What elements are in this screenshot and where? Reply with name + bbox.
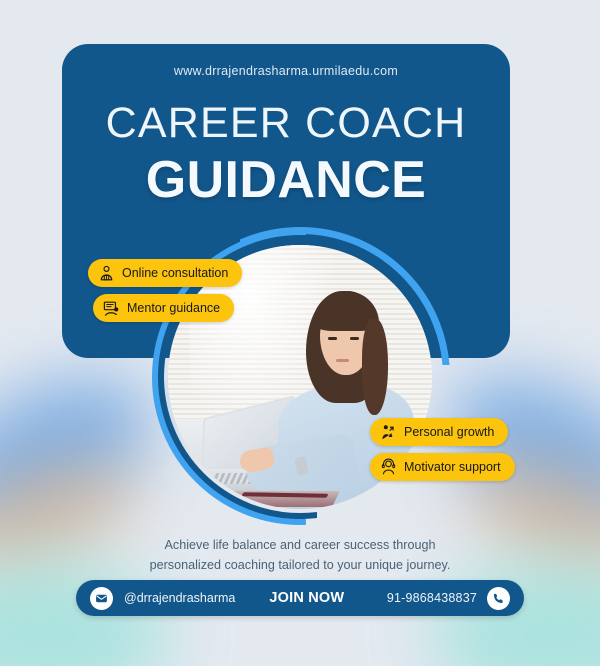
phone-handset-icon	[492, 592, 505, 605]
site-url: www.drrajendrasharma.urmilaedu.com	[62, 64, 510, 78]
footer-handle[interactable]: @drrajendrasharma	[124, 591, 235, 605]
envelope-badge[interactable]	[90, 587, 113, 610]
person-mouth	[336, 359, 349, 362]
feature-pill-label: Personal growth	[404, 425, 494, 439]
tagline-line-1: Achieve life balance and career success …	[100, 536, 500, 556]
person-hair-side	[362, 319, 388, 415]
envelope-icon	[95, 592, 108, 605]
feature-pill-personal-growth[interactable]: Personal growth	[370, 418, 508, 446]
join-now-button[interactable]: JOIN NOW	[269, 590, 344, 606]
growth-arrow-person-icon	[379, 423, 398, 442]
feature-pill-mentor-guidance[interactable]: Mentor guidance	[93, 294, 234, 322]
headline-bottom: GUIDANCE	[62, 154, 510, 206]
tagline: Achieve life balance and career success …	[100, 536, 500, 575]
consultant-person-icon	[97, 264, 116, 283]
footer-phone-number[interactable]: 91-9868438837	[387, 591, 477, 605]
mentor-presentation-icon	[102, 299, 121, 318]
background-blob-blue-left	[0, 346, 177, 569]
phone-badge[interactable]	[487, 587, 510, 610]
poster-root: www.drrajendrasharma.urmilaedu.com CAREE…	[0, 0, 600, 666]
headline-top: CAREER COACH	[62, 102, 510, 145]
tagline-line-2: personalized coaching tailored to your u…	[100, 556, 500, 576]
feature-pill-label: Motivator support	[404, 460, 501, 474]
feature-pill-motivator-support[interactable]: Motivator support	[370, 453, 515, 481]
headset-support-icon	[379, 458, 398, 477]
feature-pill-label: Online consultation	[122, 266, 228, 280]
feature-pill-online-consultation[interactable]: Online consultation	[88, 259, 242, 287]
person-eye-right	[350, 337, 359, 340]
footer-bar: @drrajendrasharma JOIN NOW 91-9868438837	[76, 580, 524, 616]
feature-pill-label: Mentor guidance	[127, 301, 220, 315]
person-eye-left	[328, 337, 337, 340]
